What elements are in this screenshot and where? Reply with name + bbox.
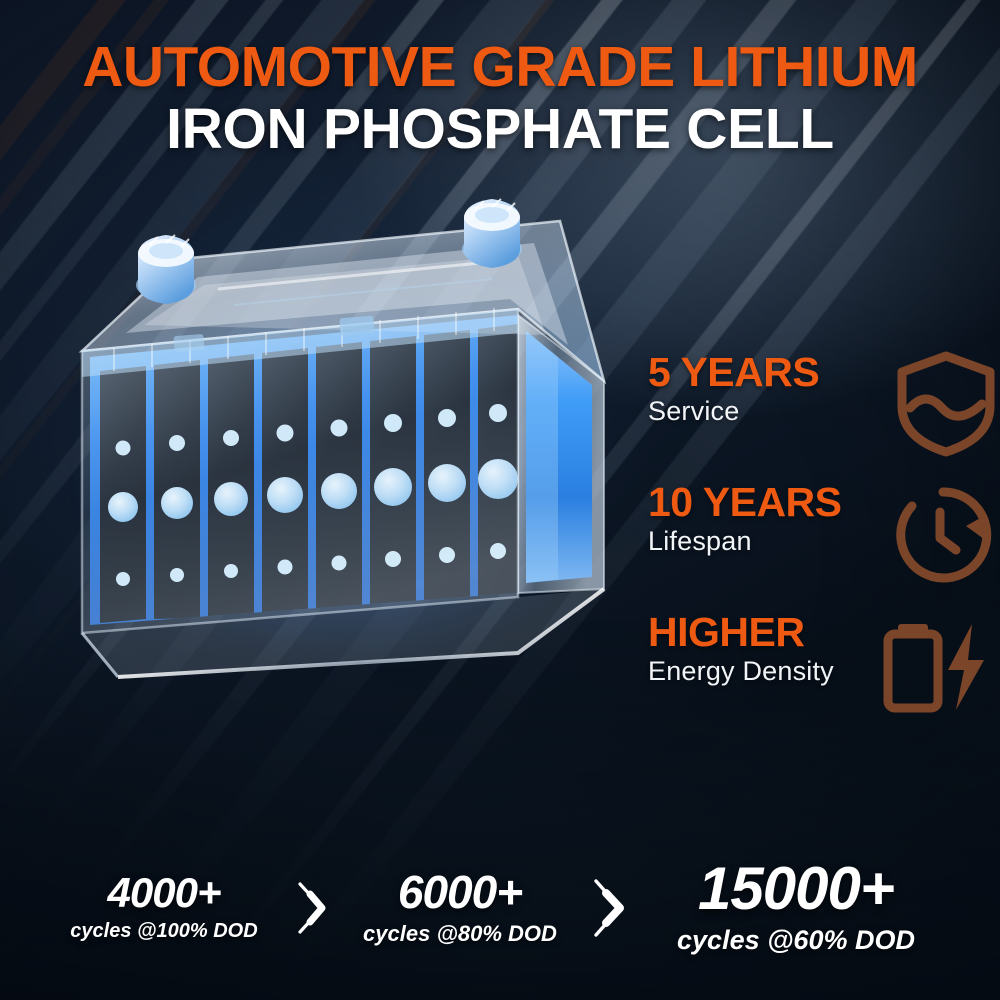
stat-15000-cycles: 15000+ cycles @60% DOD — [631, 857, 961, 958]
callout-value: 10 YEARS — [648, 480, 1000, 524]
product-image-lifepo4-cell — [48, 185, 628, 685]
chevron-separator-icon — [289, 876, 335, 940]
callout-value: 5 YEARS — [648, 350, 1000, 394]
callout-label: Energy Density — [648, 654, 1000, 688]
feature-callouts: 5 YEARS Service 10 YEARS Lifespan HIGHER — [630, 350, 1000, 740]
stat-condition: cycles @80% DOD — [335, 920, 585, 948]
cell-terminal-positive — [462, 199, 522, 268]
stat-value: 6000+ — [335, 868, 585, 916]
page-title: AUTOMOTIVE GRADE LITHIUM IRON PHOSPHATE … — [0, 36, 1000, 160]
headline-line-1: AUTOMOTIVE GRADE LITHIUM — [0, 36, 1000, 98]
stat-6000-cycles: 6000+ cycles @80% DOD — [335, 868, 585, 948]
callout-label: Service — [648, 394, 1000, 428]
stat-condition: cycles @60% DOD — [631, 924, 961, 958]
callout-service: 5 YEARS Service — [630, 350, 1000, 480]
stat-value: 15000+ — [631, 857, 961, 920]
callout-lifespan: 10 YEARS Lifespan — [630, 480, 1000, 610]
cycle-life-stats: 4000+ cycles @100% DOD 6000+ cycles @80%… — [0, 857, 1000, 958]
stat-value: 4000+ — [39, 871, 289, 915]
callout-label: Lifespan — [648, 524, 1000, 558]
stat-condition: cycles @100% DOD — [39, 919, 289, 944]
cell-terminal-negative — [136, 235, 196, 304]
battery-cell-illustration — [48, 185, 628, 685]
callout-value: HIGHER — [648, 610, 1000, 654]
headline-line-2: IRON PHOSPHATE CELL — [0, 98, 1000, 160]
chevron-separator-icon — [585, 873, 631, 943]
stat-4000-cycles: 4000+ cycles @100% DOD — [39, 871, 289, 944]
callout-energy-density: HIGHER Energy Density — [630, 610, 1000, 740]
